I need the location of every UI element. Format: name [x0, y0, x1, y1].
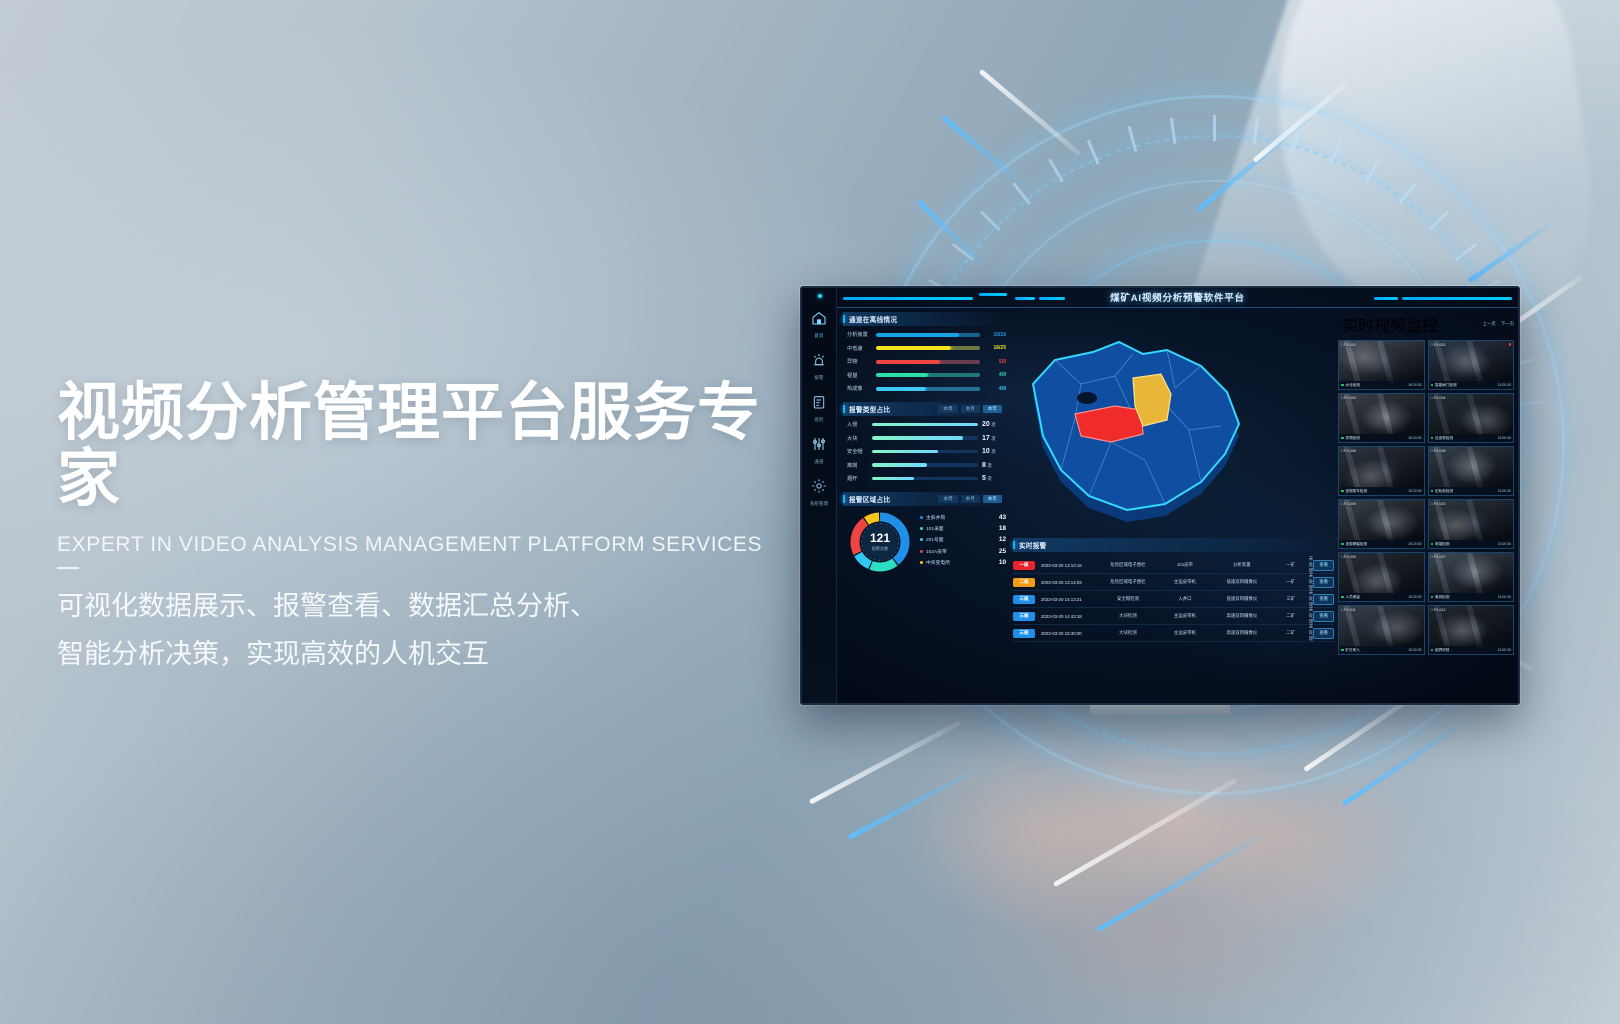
sidebar-item-home[interactable]: 首页 [811, 310, 827, 339]
area-legend: 主斜井筒43101采面18201号面12102A皮带25中央变电所10 [920, 514, 1006, 570]
legend-color-dot [920, 550, 923, 553]
camera-feed[interactable]: □ FX-002智能闸门检测15:20:30 [1428, 340, 1515, 390]
camera-footer: 矿灯房人15:20:30 [1339, 646, 1424, 654]
sliders-icon [811, 436, 827, 457]
header-bar-left-4 [1039, 297, 1065, 300]
channel-progress-tail [926, 387, 980, 391]
alarm-lamp-icon [811, 352, 827, 373]
legend-label: 101采面 [926, 525, 996, 532]
camera-name-label: 离岗检测 [1431, 595, 1450, 600]
realtime-alarm-panel: 实时报警 一级2023-03-20 13:10:16危险区域电子围栏101皮带分… [1013, 538, 1334, 642]
camera-name-label: 水仓检测 [1341, 383, 1360, 388]
monitor-stand [1090, 705, 1230, 715]
legend-color-dot [920, 561, 923, 564]
legend-value: 43 [999, 514, 1006, 521]
alarm-type-label: 入侵 [847, 421, 868, 428]
camera-feed[interactable]: □ FX-006违规乘车检测15:20:30 [1338, 446, 1425, 496]
alarm-device: 分析装置 [1211, 562, 1273, 568]
alarm-time: 2023-03-20 13:14:03 [1041, 580, 1097, 585]
video-prev-page-button[interactable]: 上一页 [1483, 321, 1496, 327]
camera-timestamp: 15:20:30 [1408, 383, 1421, 387]
channel-progress-fill [876, 333, 959, 337]
camera-footer: 异物检测15:20:30 [1339, 434, 1424, 442]
hero-desc-line-1: 可视化数据展示、报警查看、数据汇总分析、 [57, 583, 817, 630]
alarm-time: 2023-03-20 14:13:21 [1041, 597, 1097, 602]
camera-id-label: □ FX-002 [1431, 343, 1446, 347]
camera-name-label: 人员侵留 [1341, 595, 1360, 600]
channel-row: 中低速16/25 [843, 345, 1006, 352]
ring-tick [1213, 115, 1216, 141]
camera-timestamp: 15:20:30 [1408, 542, 1421, 546]
channel-progress-track [876, 346, 980, 350]
type-panel-tabs[interactable]: 本周本月本年 [938, 405, 1002, 413]
hero-divider [57, 567, 79, 569]
video-next-page-button[interactable]: 下一页 [1501, 321, 1514, 327]
alarm-location: 主运皮带机 [1159, 613, 1211, 619]
alarm-view-button[interactable]: 查看 [1313, 611, 1334, 622]
alarm-device: 低速双目摄像仪 [1211, 596, 1273, 602]
sidebar-item-system-label: 系统管理 [810, 501, 828, 507]
area-panel-tab[interactable]: 本月 [961, 495, 980, 503]
sidebar-item-channel-label: 通道 [814, 459, 823, 465]
panel-accent-bar [843, 495, 845, 503]
camera-name-label: 皮带撕裂检测 [1341, 542, 1367, 547]
table-row[interactable]: 三级2023-03-20 14:43:18大块检测主运皮带机高速双目摄像仪二矿未… [1013, 608, 1334, 625]
alarm-type: 大块检测 [1097, 613, 1159, 619]
legend-color-dot [920, 538, 923, 541]
legend-label: 中央变电所 [926, 559, 996, 566]
recording-indicator [1509, 343, 1512, 346]
channel-row-label: 热成像 [847, 385, 872, 392]
channel-progress-fill [876, 387, 926, 391]
channel-row-label: 视望 [847, 372, 872, 379]
camera-id-label: □ FX-005 [1341, 555, 1356, 559]
legend-color-dot [920, 527, 923, 530]
channel-progress-tail [951, 346, 980, 350]
hero-section: 视频分析管理平台服务专家 EXPERT IN VIDEO ANALYSIS MA… [57, 380, 817, 678]
camera-id-label: □ FX-009 [1341, 502, 1356, 506]
video-panel-header: 实时视频监控 上一页 下一页 [1338, 312, 1514, 336]
alarm-type-fill [872, 450, 938, 454]
area-panel-tabs[interactable]: 本周本月本年 [938, 495, 1002, 503]
alarm-time: 2023-03-20 13:10:16 [1041, 563, 1097, 568]
alarm-type-value: 5次 [982, 475, 1006, 482]
channel-row-value: 16/25 [984, 345, 1006, 351]
panel-accent-bar [843, 405, 845, 413]
channel-progress-fill [876, 346, 951, 350]
alarm-view-button[interactable]: 查看 [1313, 577, 1334, 588]
alarm-type-track [872, 436, 978, 440]
type-panel-tab[interactable]: 本年 [983, 405, 1002, 413]
panel-accent-bar [843, 315, 845, 323]
channel-row: 视望4/9 [843, 372, 1006, 379]
camera-footer: 智能闸门检测15:20:30 [1429, 381, 1514, 389]
camera-id-label: □ FX-010 [1431, 502, 1446, 506]
alarm-type-track [872, 463, 978, 467]
alarm-type-fill [872, 436, 963, 440]
alarm-type-track [872, 477, 978, 481]
alarm-type: 危险区域电子围栏 [1097, 579, 1159, 585]
channel-progress-track [876, 373, 980, 377]
camera-timestamp: 15:20:30 [1498, 595, 1511, 599]
page-title: 视频分析管理平台服务专家 [57, 380, 817, 512]
alarm-type-value: 8次 [982, 462, 1006, 469]
camera-name-label: 丝皮带检测 [1431, 436, 1453, 441]
sidebar-item-inspection-label: 巡检 [814, 417, 823, 423]
legend-row: 主斜井筒43 [920, 514, 1006, 521]
legend-label: 201号面 [926, 536, 996, 543]
legend-row: 101采面18 [920, 525, 1006, 532]
area-panel-tab[interactable]: 本周 [938, 495, 957, 503]
channel-row-value: 4/9 [984, 386, 1006, 392]
camera-timestamp: 15:20:30 [1408, 436, 1421, 440]
camera-name-label: 越界判别 [1431, 648, 1450, 653]
alarm-location: 主运皮带机 [1159, 579, 1211, 585]
header-bar-left-2 [979, 293, 1007, 296]
alarm-time: 2023-03-20 14:43:18 [1041, 614, 1097, 619]
camera-timestamp: 15:20:30 [1408, 595, 1421, 599]
type-panel-title: 报警类型占比 [849, 404, 890, 414]
alarm-type-row: 离岗8次 [843, 462, 1006, 469]
camera-footer: 水仓检测15:20:30 [1339, 381, 1424, 389]
area-panel-tab[interactable]: 本年 [983, 495, 1002, 503]
camera-feed[interactable]: □ FX-009皮带撕裂检测15:20:30 [1338, 499, 1425, 549]
alarm-type-row: 入侵20次 [843, 421, 1006, 428]
sidebar-item-system[interactable]: 系统管理 [810, 478, 828, 507]
camera-timestamp: 15:20:30 [1408, 648, 1421, 652]
alarm-panel-title: 实时报警 [1019, 540, 1047, 550]
hero-subtitle-en: EXPERT IN VIDEO ANALYSIS MANAGEMENT PLAT… [57, 533, 817, 557]
channel-row-label: 分析装置 [847, 331, 872, 338]
camera-footer: 离岗检测15:20:30 [1429, 593, 1514, 601]
alarm-location: 入井口 [1159, 596, 1211, 602]
type-panel-header: 报警类型占比 本周本月本年 [843, 402, 1006, 416]
table-row[interactable]: 二级2023-03-20 13:14:03危险区域电子围栏主运皮带机低速双目摄像… [1013, 574, 1334, 591]
map-svg [1015, 314, 1253, 532]
table-row[interactable]: 一级2023-03-20 13:10:16危险区域电子围栏101皮带分析装置一矿… [1013, 557, 1334, 574]
camera-timestamp: 15:20:30 [1498, 436, 1511, 440]
alarm-view-button[interactable]: 查看 [1313, 560, 1334, 571]
alarm-type: 危险区域电子围栏 [1097, 562, 1159, 568]
channel-progress-track [876, 387, 980, 391]
alarm-type: 安全帽检测 [1097, 596, 1159, 602]
camera-id-label: □ FX-001 [1341, 343, 1356, 347]
alarm-device: 高速双目摄像仪 [1211, 613, 1273, 619]
camera-feed[interactable]: □ FX-007离岗检测15:20:30 [1428, 552, 1515, 602]
status-badge: 三级 [1013, 595, 1035, 604]
hero-desc-line-2: 智能分析决策，实现高效的人机交互 [57, 631, 817, 678]
legend-value: 18 [999, 525, 1006, 532]
alarm-mine: 一矿 [1273, 562, 1309, 568]
alarm-panel-header: 实时报警 [1013, 538, 1334, 552]
camera-id-label: □ FX-011 [1341, 608, 1356, 612]
camera-id-label: □ FX-012 [1431, 608, 1446, 612]
legend-value: 25 [999, 548, 1006, 555]
camera-name-label: 违规乘车检测 [1341, 489, 1367, 494]
channel-row-value: 4/9 [984, 372, 1006, 378]
alarm-table-body: 一级2023-03-20 13:10:16危险区域电子围栏101皮带分析装置一矿… [1013, 557, 1334, 642]
camera-footer: 定轨架检测15:20:30 [1429, 487, 1514, 495]
channel-row: 异物5/9 [843, 358, 1006, 365]
camera-footer: 违规乘车检测15:20:30 [1339, 487, 1424, 495]
channel-status-panel: 通道在离线情况 分析装置10/16中低速16/25异物5/9视望4/9热成像4/… [843, 312, 1006, 573]
channel-panel-header: 通道在离线情况 [843, 312, 1006, 326]
alarm-type-fill [872, 463, 927, 467]
video-monitor-panel: 实时视频监控 上一页 下一页 □ FX-001水仓检测15:20:30□ FX-… [1338, 312, 1514, 655]
camera-feed[interactable]: □ FX-005人员侵留15:20:30 [1338, 552, 1425, 602]
alarm-type-value: 20次 [982, 421, 1006, 428]
channel-row-label: 中低速 [847, 345, 872, 352]
clipboard-check-icon [811, 394, 827, 415]
alarm-type-row: 烟杆5次 [843, 475, 1006, 482]
alarm-type-track [872, 423, 978, 427]
dashboard-main: 煤矿AI视频分析预警软件平台 通道在离线情况 分析装置10/16中低速16/25… [837, 288, 1518, 703]
camera-feed[interactable]: □ FX-003异物检测15:20:30 [1338, 393, 1425, 443]
alarm-time: 2023-03-20 15:30:00 [1041, 631, 1097, 636]
camera-footer: 人员侵留15:20:30 [1339, 593, 1424, 601]
area-donut-wrap: 121 报警次数 主斜井筒43101采面18201号面12102A皮带25中央变… [843, 511, 1006, 573]
dashboard-monitor: 首页 报警 巡检 通道 [800, 286, 1520, 705]
header-bar-left [843, 297, 973, 300]
alarm-type-fill [872, 477, 914, 481]
donut-total-caption: 报警次数 [872, 546, 889, 552]
channel-row-value: 5/9 [984, 359, 1006, 365]
alarm-mine: 二矿 [1273, 613, 1309, 619]
donut-center: 121 报警次数 [861, 523, 899, 561]
area-donut-chart: 121 报警次数 [849, 511, 911, 573]
channel-row-value: 10/16 [984, 332, 1006, 338]
alarm-type-row: 安全帽10次 [843, 448, 1006, 455]
legend-value: 12 [999, 536, 1006, 543]
header-bar-right [1402, 297, 1512, 300]
legend-color-dot [920, 516, 923, 519]
camera-footer: 越界判别15:20:30 [1429, 646, 1514, 654]
channel-progress-tail [928, 373, 980, 377]
legend-label: 主斜井筒 [926, 514, 996, 521]
map-region-alert-red[interactable] [1075, 406, 1143, 442]
type-panel-tab[interactable]: 本周 [938, 405, 957, 413]
camera-feed[interactable]: □ FX-010堆煤检测15:20:30 [1428, 499, 1515, 549]
sidebar-item-channel[interactable]: 通道 [811, 436, 827, 465]
map-lake [1077, 392, 1097, 404]
alarm-mine: 二矿 [1273, 630, 1309, 636]
alarm-mine: 三矿 [1273, 596, 1309, 602]
channel-progress-fill [876, 360, 940, 364]
home-icon [811, 310, 827, 331]
channel-progress-track [876, 333, 980, 337]
channel-progress-tail [959, 333, 980, 337]
camera-timestamp: 15:20:30 [1498, 542, 1511, 546]
channel-progress-fill [876, 373, 928, 377]
channel-progress-tail [940, 360, 980, 364]
camera-feed[interactable]: □ FX-008定轨架检测15:20:30 [1428, 446, 1515, 496]
camera-name-label: 异物检测 [1341, 436, 1360, 441]
header-bar-left-3 [1015, 297, 1035, 300]
sidebar-status-dot [818, 294, 822, 298]
panel-accent-bar [1013, 541, 1015, 549]
camera-id-label: □ FX-003 [1341, 396, 1356, 400]
status-badge: 二级 [1013, 578, 1035, 587]
sidebar-item-alarm-label: 报警 [814, 375, 823, 381]
camera-id-label: □ FX-004 [1431, 396, 1446, 400]
alarm-mine: 一矿 [1273, 579, 1309, 585]
camera-name-label: 矿灯房人 [1341, 648, 1360, 653]
alarm-location: 主运皮带机 [1159, 630, 1211, 636]
camera-name-label: 智能闸门检测 [1431, 383, 1457, 388]
status-badge: 三级 [1013, 629, 1035, 638]
status-badge: 一级 [1013, 561, 1035, 570]
alarm-type-label: 烟杆 [847, 475, 868, 482]
video-grid: □ FX-001水仓检测15:20:30□ FX-002智能闸门检测15:20:… [1338, 340, 1514, 655]
camera-timestamp: 15:20:30 [1498, 648, 1511, 652]
camera-name-label: 堆煤检测 [1431, 542, 1450, 547]
camera-id-label: □ FX-006 [1341, 449, 1356, 453]
camera-feed[interactable]: □ FX-012越界判别15:20:30 [1428, 605, 1515, 655]
alarm-location: 101皮带 [1159, 562, 1211, 568]
camera-timestamp: 15:20:30 [1498, 383, 1511, 387]
sidebar-item-inspection[interactable]: 巡检 [811, 394, 827, 423]
camera-footer: 皮带撕裂检测15:20:30 [1339, 540, 1424, 548]
camera-id-label: □ FX-007 [1431, 555, 1446, 559]
camera-feed[interactable]: □ FX-004丝皮带检测15:20:30 [1428, 393, 1515, 443]
alarm-type-value: 10次 [982, 448, 1006, 455]
table-row[interactable]: 三级2023-03-20 15:30:00大块检测主运皮带机高速双目摄像仪二矿未… [1013, 625, 1334, 642]
alarm-device: 高速双目摄像仪 [1211, 630, 1273, 636]
channel-row-label: 异物 [847, 358, 872, 365]
type-panel-tab[interactable]: 本月 [961, 405, 980, 413]
type-rows: 入侵20次大块17次安全帽10次离岗8次烟杆5次 [843, 421, 1006, 482]
alarm-type: 大块检测 [1097, 630, 1159, 636]
alarm-type-label: 离岗 [847, 462, 868, 469]
region-map[interactable] [1015, 314, 1253, 532]
channel-progress-track [876, 360, 980, 364]
dashboard-screen: 首页 报警 巡检 通道 [802, 288, 1518, 703]
camera-footer: 堆煤检测15:20:30 [1429, 540, 1514, 548]
legend-value: 10 [999, 559, 1006, 566]
camera-name-label: 定轨架检测 [1431, 489, 1453, 494]
legend-row: 201号面12 [920, 536, 1006, 543]
camera-feed[interactable]: □ FX-011矿灯房人15:20:30 [1338, 605, 1425, 655]
alarm-type-label: 安全帽 [847, 448, 868, 455]
alarm-type-row: 大块17次 [843, 435, 1006, 442]
camera-footer: 丝皮带检测15:20:30 [1429, 434, 1514, 442]
alarm-type-value: 17次 [982, 435, 1006, 442]
camera-timestamp: 15:20:30 [1498, 489, 1511, 493]
camera-feed[interactable]: □ FX-001水仓检测15:20:30 [1338, 340, 1425, 390]
area-panel-title: 报警区域占比 [849, 494, 890, 504]
legend-label: 102A皮带 [926, 548, 996, 555]
channel-panel-title: 通道在离线情况 [849, 314, 897, 324]
table-row[interactable]: 三级2023-03-20 14:13:21安全帽检测入井口低速双目摄像仪三矿未处… [1013, 591, 1334, 608]
channel-rows: 分析装置10/16中低速16/25异物5/9视望4/9热成像4/9 [843, 331, 1006, 392]
legend-row: 中央变电所10 [920, 559, 1006, 566]
channel-row: 热成像4/9 [843, 385, 1006, 392]
header-divider [837, 307, 1518, 308]
alarm-device: 低速双目摄像仪 [1211, 579, 1273, 585]
area-panel-header: 报警区域占比 本周本月本年 [843, 492, 1006, 506]
alarm-type-track [872, 450, 978, 454]
status-badge: 三级 [1013, 612, 1035, 621]
sidebar-item-home-label: 首页 [814, 333, 823, 339]
alarm-type-label: 大块 [847, 435, 868, 442]
video-panel-title: 实时视频监控 [1342, 312, 1438, 336]
alarm-type-fill [872, 423, 978, 427]
channel-row: 分析装置10/16 [843, 331, 1006, 338]
alarm-view-button[interactable]: 查看 [1313, 628, 1334, 639]
sidebar-item-alarm[interactable]: 报警 [811, 352, 827, 381]
gear-icon [811, 478, 827, 499]
camera-timestamp: 15:20:30 [1408, 489, 1421, 493]
header-bar-right-2 [1374, 297, 1398, 300]
donut-total-value: 121 [870, 532, 890, 544]
dashboard-sidebar: 首页 报警 巡检 通道 [802, 288, 837, 703]
legend-row: 102A皮带25 [920, 548, 1006, 555]
alarm-view-button[interactable]: 查看 [1313, 594, 1334, 605]
camera-id-label: □ FX-008 [1431, 449, 1446, 453]
